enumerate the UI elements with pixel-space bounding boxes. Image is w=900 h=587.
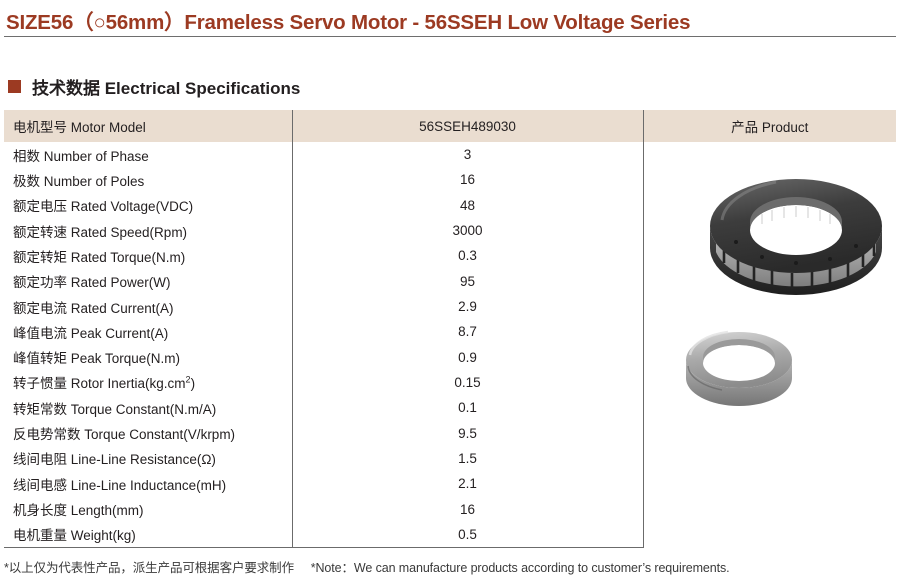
row-label-13: 线间电感 Line-Line Inductance(mH) bbox=[4, 471, 292, 496]
row-label-1: 极数 Number of Poles bbox=[4, 167, 292, 192]
header-product: 产品 Product bbox=[643, 110, 896, 142]
footnote-english: *Note：We can manufacture products accord… bbox=[311, 561, 730, 575]
row-label-15: 电机重量 Weight(kg) bbox=[4, 522, 292, 547]
row-label-2: 额定电压 Rated Voltage(VDC) bbox=[4, 193, 292, 218]
row-label-7: 峰值电流 Peak Current(A) bbox=[4, 319, 292, 344]
row-value-5: 95 bbox=[292, 269, 643, 294]
row-label-6: 额定电流 Rated Current(A) bbox=[4, 294, 292, 319]
title-divider bbox=[4, 36, 896, 37]
square-bullet-icon bbox=[8, 80, 21, 93]
product-illustration bbox=[644, 142, 897, 547]
row-label-14: 机身长度 Length(mm) bbox=[4, 496, 292, 521]
row-label-12: 线间电阻 Line-Line Resistance(Ω) bbox=[4, 446, 292, 471]
row-label-3: 额定转速 Rated Speed(Rpm) bbox=[4, 218, 292, 243]
row-value-8: 0.9 bbox=[292, 345, 643, 370]
row-value-11: 9.5 bbox=[292, 420, 643, 445]
row-label-11: 反电势常数 Torque Constant(V/krpm) bbox=[4, 420, 292, 445]
rotor-ring-image bbox=[682, 320, 796, 406]
footnote: *以上仅为代表性产品，派生产品可根据客户要求制作 *Note：We can ma… bbox=[4, 557, 730, 576]
electrical-specifications-table: 电机型号 Motor Model 56SSEH489030 产品 Product… bbox=[4, 110, 896, 548]
row-label-9: 转子惯量 Rotor Inertia(kg.cm2) bbox=[4, 370, 292, 395]
superscript: 2 bbox=[186, 375, 191, 385]
product-image-cell bbox=[643, 142, 896, 547]
header-motor-model: 电机型号 Motor Model bbox=[4, 110, 292, 142]
row-value-14: 16 bbox=[292, 496, 643, 521]
row-label-8: 峰值转矩 Peak Torque(N.m) bbox=[4, 345, 292, 370]
row-label-4: 额定转矩 Rated Torque(N.m) bbox=[4, 243, 292, 268]
table-header-row: 电机型号 Motor Model 56SSEH489030 产品 Product bbox=[4, 110, 896, 142]
row-value-1: 16 bbox=[292, 167, 643, 192]
row-value-4: 0.3 bbox=[292, 243, 643, 268]
row-value-0: 3 bbox=[292, 142, 643, 167]
section-heading: 技术数据 Electrical Specifications bbox=[8, 74, 300, 99]
row-value-9: 0.15 bbox=[292, 370, 643, 395]
row-value-13: 2.1 bbox=[292, 471, 643, 496]
row-label-0: 相数 Number of Phase bbox=[4, 142, 292, 167]
header-model-number: 56SSEH489030 bbox=[292, 110, 643, 142]
section-heading-label: 技术数据 Electrical Specifications bbox=[32, 74, 300, 99]
table-body-first-row: 相数 Number of Phase 3 bbox=[4, 142, 896, 167]
row-value-7: 8.7 bbox=[292, 319, 643, 344]
row-value-12: 1.5 bbox=[292, 446, 643, 471]
row-value-10: 0.1 bbox=[292, 395, 643, 420]
row-value-15: 0.5 bbox=[292, 522, 643, 547]
page-title: SIZE56（○56mm）Frameless Servo Motor - 56S… bbox=[6, 5, 690, 35]
row-value-3: 3000 bbox=[292, 218, 643, 243]
footnote-chinese: *以上仅为代表性产品，派生产品可根据客户要求制作 bbox=[4, 561, 294, 575]
stator-ring-image bbox=[706, 164, 886, 296]
row-value-2: 48 bbox=[292, 193, 643, 218]
row-label-10: 转矩常数 Torque Constant(N.m/A) bbox=[4, 395, 292, 420]
row-value-6: 2.9 bbox=[292, 294, 643, 319]
row-label-5: 额定功率 Rated Power(W) bbox=[4, 269, 292, 294]
